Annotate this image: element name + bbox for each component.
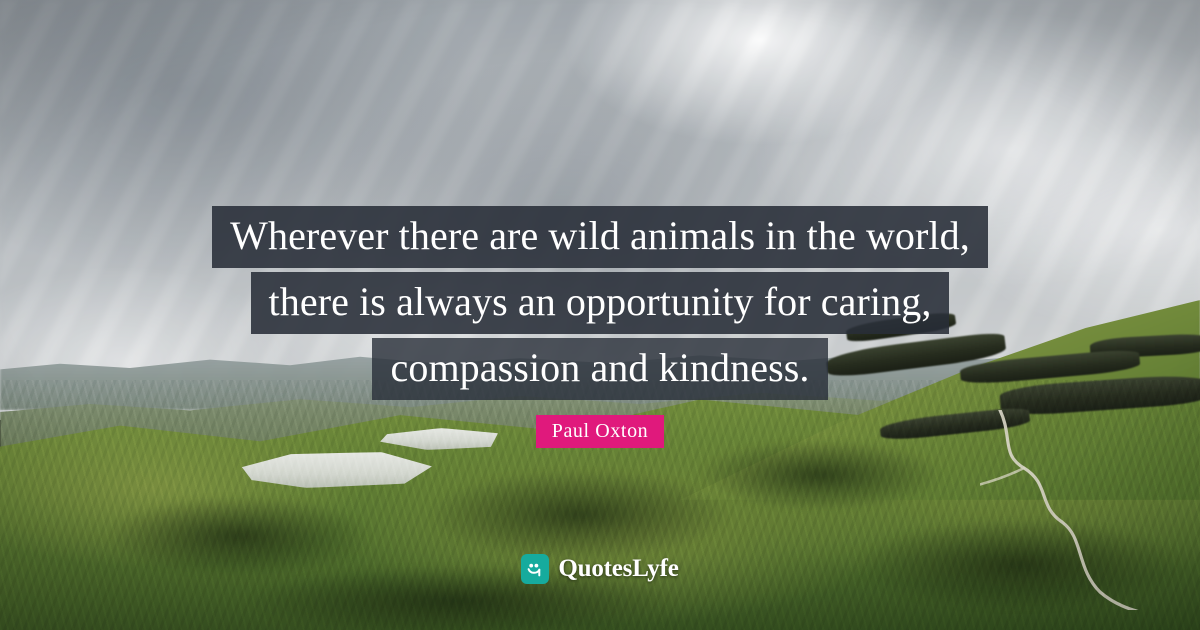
quote-block: Wherever there are wild animals in the w… bbox=[0, 206, 1200, 400]
quote-line-2: there is always an opportunity for carin… bbox=[251, 272, 950, 334]
brand-wordmark: QuotesLyfe bbox=[558, 555, 678, 583]
quote-line-1: Wherever there are wild animals in the w… bbox=[212, 206, 988, 268]
quote-line-3: compassion and kindness. bbox=[372, 338, 827, 400]
author-block: Paul Oxton bbox=[0, 415, 1200, 448]
author-name-badge: Paul Oxton bbox=[536, 415, 665, 448]
quote-smiley-icon bbox=[521, 554, 549, 584]
quote-image-canvas: Wherever there are wild animals in the w… bbox=[0, 0, 1200, 630]
brand-logo[interactable]: QuotesLyfe bbox=[0, 554, 1200, 584]
